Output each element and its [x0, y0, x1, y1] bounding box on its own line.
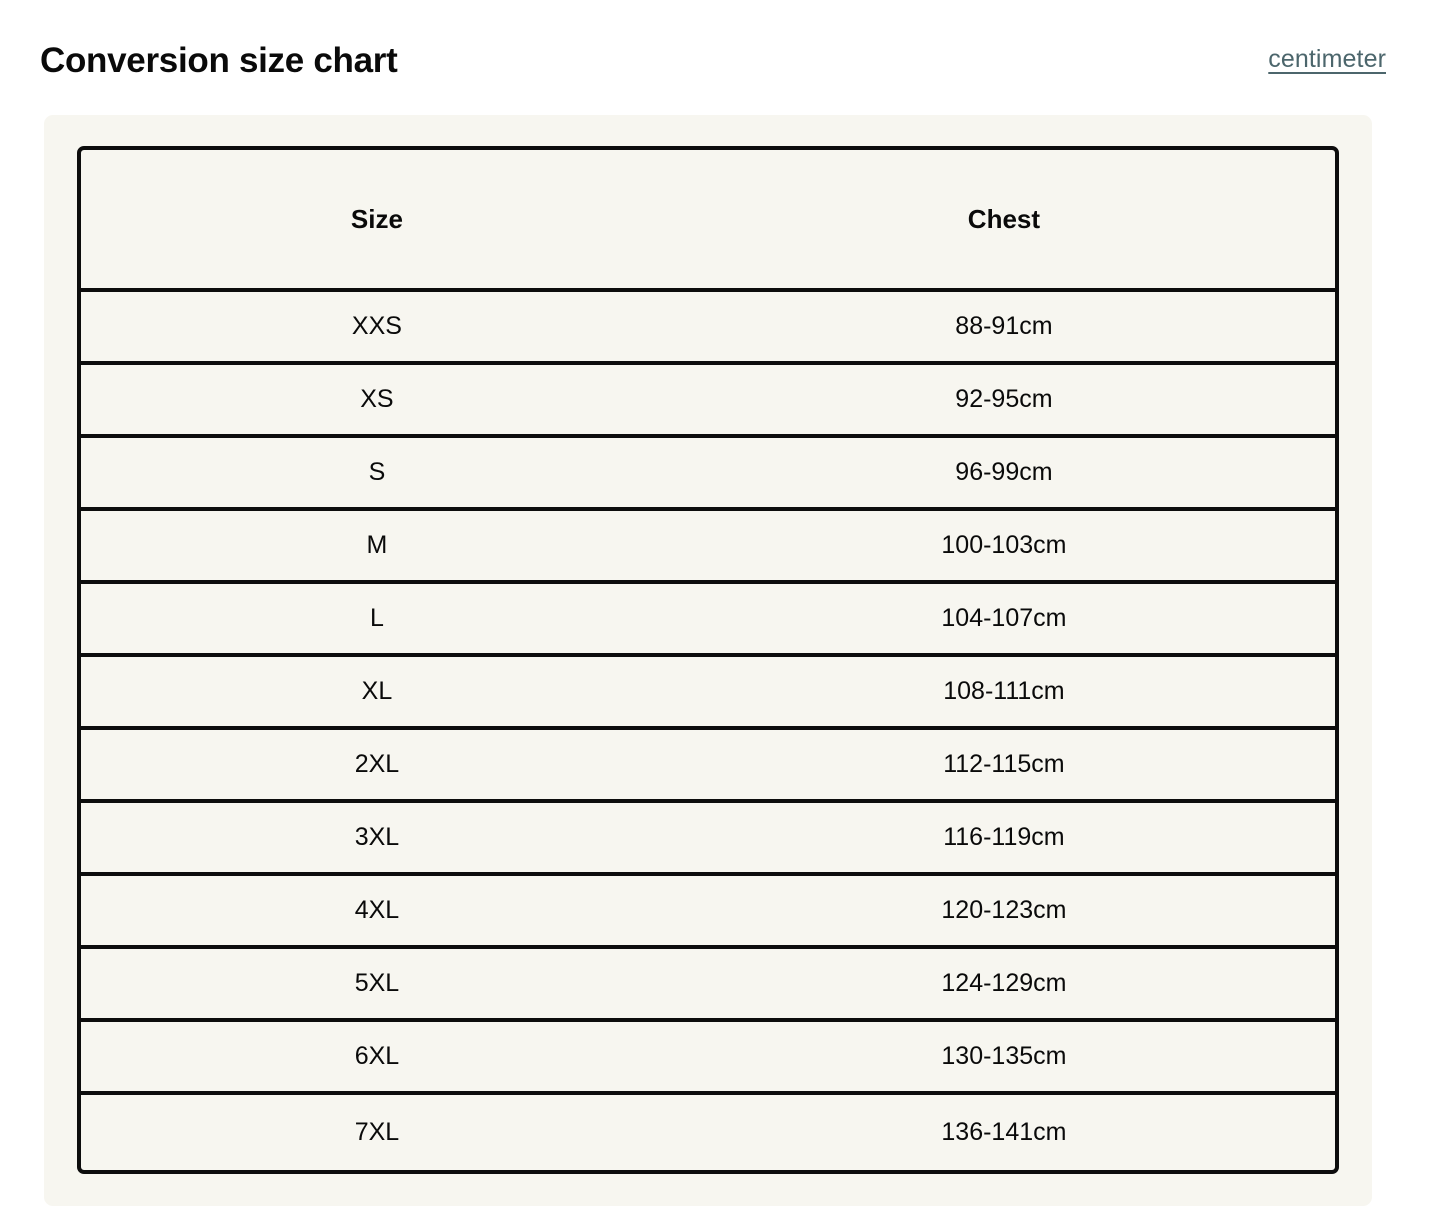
table-row: XXS 88-91cm	[81, 292, 1335, 365]
table-row: 2XL 112-115cm	[81, 730, 1335, 803]
cell-size: M	[81, 533, 673, 558]
column-header-chest: Chest	[673, 206, 1335, 232]
cell-size: 4XL	[81, 898, 673, 923]
page-title: Conversion size chart	[40, 37, 397, 78]
unit-toggle-link[interactable]: centimeter	[1268, 41, 1386, 74]
table-row: S 96-99cm	[81, 438, 1335, 511]
table-row: 5XL 124-129cm	[81, 949, 1335, 1022]
table-row: 6XL 130-135cm	[81, 1022, 1335, 1095]
cell-chest: 120-123cm	[673, 898, 1335, 923]
cell-size: XXS	[81, 314, 673, 339]
cell-size: L	[81, 606, 673, 631]
cell-chest: 96-99cm	[673, 460, 1335, 485]
cell-chest: 104-107cm	[673, 606, 1335, 631]
cell-chest: 100-103cm	[673, 533, 1335, 558]
table-row: 4XL 120-123cm	[81, 876, 1335, 949]
cell-chest: 116-119cm	[673, 825, 1335, 850]
column-header-size: Size	[81, 206, 673, 232]
cell-size: S	[81, 460, 673, 485]
table-row: XS 92-95cm	[81, 365, 1335, 438]
cell-size: XL	[81, 679, 673, 704]
table-row: 3XL 116-119cm	[81, 803, 1335, 876]
cell-chest: 112-115cm	[673, 752, 1335, 777]
page-header: Conversion size chart centimeter	[0, 0, 1430, 114]
size-chart-table: Size Chest XXS 88-91cm XS 92-95cm S 96-9…	[77, 146, 1339, 1174]
table-row: L 104-107cm	[81, 584, 1335, 657]
cell-chest: 136-141cm	[673, 1120, 1335, 1145]
table-header-row: Size Chest	[81, 150, 1335, 292]
table-row: XL 108-111cm	[81, 657, 1335, 730]
size-chart-card: Size Chest XXS 88-91cm XS 92-95cm S 96-9…	[44, 115, 1372, 1206]
cell-size: 7XL	[81, 1120, 673, 1145]
table-row: 7XL 136-141cm	[81, 1095, 1335, 1169]
cell-chest: 124-129cm	[673, 971, 1335, 996]
size-chart-page: Conversion size chart centimeter Size Ch…	[0, 0, 1430, 1228]
cell-chest: 88-91cm	[673, 314, 1335, 339]
cell-size: 5XL	[81, 971, 673, 996]
table-row: M 100-103cm	[81, 511, 1335, 584]
cell-size: XS	[81, 387, 673, 412]
cell-chest: 130-135cm	[673, 1044, 1335, 1069]
cell-chest: 108-111cm	[673, 679, 1335, 704]
cell-size: 6XL	[81, 1044, 673, 1069]
cell-size: 2XL	[81, 752, 673, 777]
cell-chest: 92-95cm	[673, 387, 1335, 412]
cell-size: 3XL	[81, 825, 673, 850]
